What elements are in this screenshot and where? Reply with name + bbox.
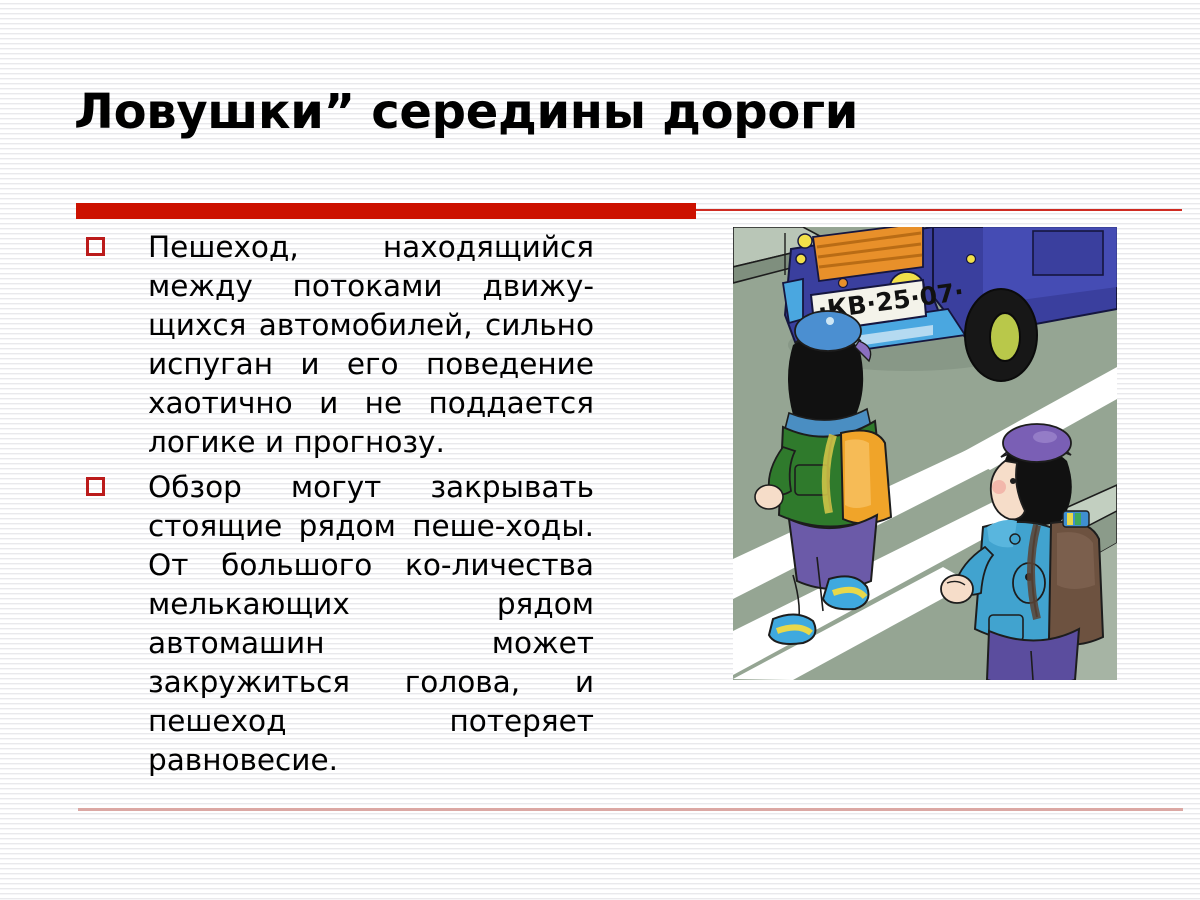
crosswalk-illustration: ·КВ·25·07· bbox=[733, 227, 1117, 680]
square-bullet-icon bbox=[86, 477, 105, 496]
bullet-text: Обзор могут закрывать стоящие рядом пеше… bbox=[148, 468, 594, 780]
title-area: Ловушки” середины дороги bbox=[74, 82, 1124, 150]
square-bullet-icon bbox=[86, 237, 105, 256]
van-wheel bbox=[965, 289, 1037, 381]
page-title: Ловушки” середины дороги bbox=[74, 82, 1124, 142]
body-text-column: Пешеход, находящийся между потоками движ… bbox=[82, 228, 594, 786]
list-item: Пешеход, находящийся между потоками движ… bbox=[82, 228, 594, 462]
bullet-text: Пешеход, находящийся между потоками движ… bbox=[148, 228, 594, 462]
title-divider bbox=[76, 200, 1182, 220]
list-item: Обзор могут закрывать стоящие рядом пеше… bbox=[82, 468, 594, 780]
crosswalk-illustration-svg: ·КВ·25·07· bbox=[733, 227, 1117, 680]
bottom-divider bbox=[78, 808, 1183, 811]
title-divider-thick-bar bbox=[76, 203, 696, 219]
presentation-slide: Ловушки” середины дороги Пешеход, находя… bbox=[0, 0, 1200, 900]
